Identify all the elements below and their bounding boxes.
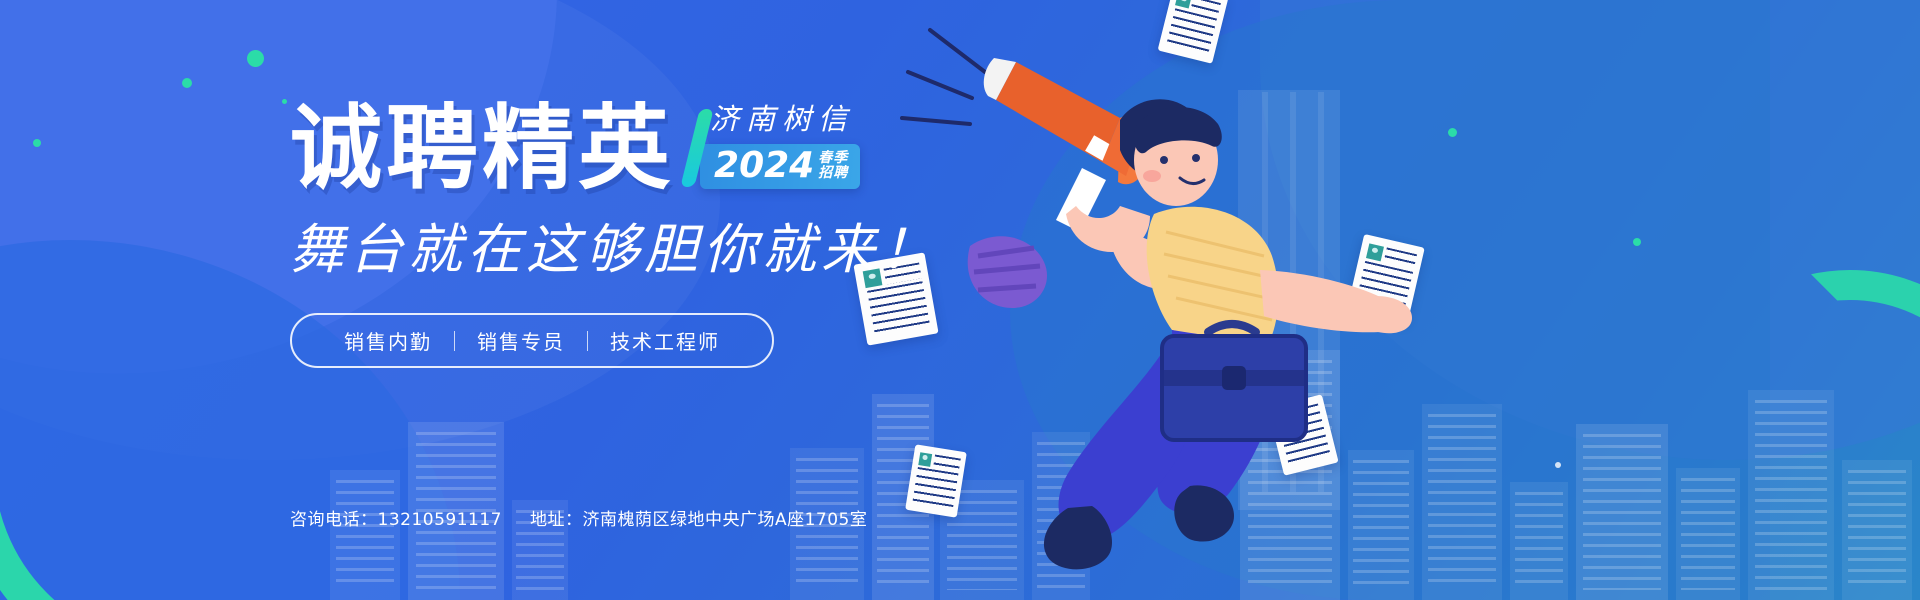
hand-right (1376, 296, 1412, 333)
contact-footer: 咨询电话：13210591117 地址：济南槐荫区绿地中央广场A座1705室 (290, 505, 867, 530)
badge-subtext: 春季 招聘 (818, 151, 848, 181)
decor-dot (247, 50, 264, 67)
contact-address: 地址：济南槐荫区绿地中央广场A座1705室 (530, 505, 867, 530)
company-name: 济南树信 (700, 96, 860, 138)
badge-action: 招聘 (818, 166, 848, 180)
shoe-front (1044, 506, 1112, 569)
page-title: 诚聘精英 (290, 103, 674, 195)
decor-dot (33, 139, 41, 147)
banner-content: 诚聘精英 济南树信 2024 春季 招聘 舞台就在这够胆你就来！ 销售内勤 销售… (290, 96, 1170, 368)
positions-pill: 销售内勤 销售专员 技术工程师 (290, 313, 774, 368)
badge-season: 春季 (818, 151, 848, 165)
position-item-2[interactable]: 技术工程师 (588, 326, 742, 355)
recruitment-banner: 诚聘精英 济南树信 2024 春季 招聘 舞台就在这够胆你就来！ 销售内勤 销售… (0, 0, 1920, 600)
decor-dot (282, 99, 287, 104)
position-item-0[interactable]: 销售内勤 (322, 326, 454, 355)
decor-dot (182, 78, 192, 88)
headline-row: 诚聘精英 济南树信 2024 春季 招聘 (290, 96, 1170, 195)
position-item-1[interactable]: 销售专员 (455, 326, 587, 355)
company-badge-group: 济南树信 2024 春季 招聘 (686, 96, 860, 195)
subtitle: 舞台就在这够胆你就来！ (290, 221, 1170, 279)
badge-year: 2024 (714, 148, 814, 184)
contact-phone: 咨询电话：13210591117 (290, 505, 502, 530)
recruitment-badge: 2024 春季 招聘 (700, 144, 860, 189)
decor-dot (1633, 238, 1641, 246)
